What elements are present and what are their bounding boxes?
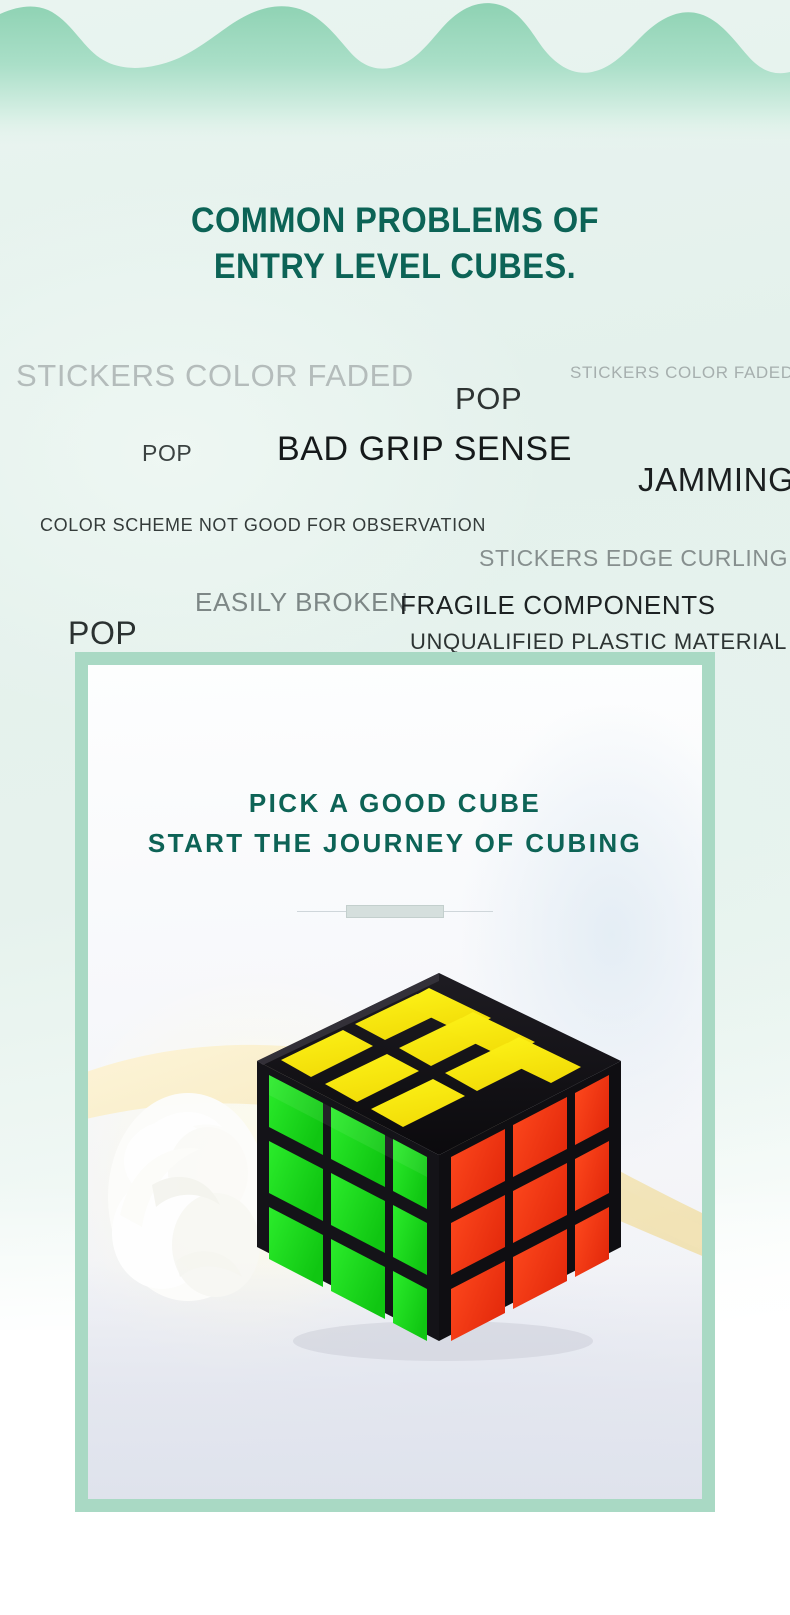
word-cloud-item: POP	[455, 383, 522, 414]
word-cloud-item: EASILY BROKEN	[195, 589, 408, 615]
card-title: PICK A GOOD CUBE START THE JOURNEY OF CU…	[88, 783, 702, 863]
page-title: COMMON PROBLEMS OF ENTRY LEVEL CUBES.	[28, 198, 763, 290]
section-divider	[297, 905, 493, 919]
divider-knob	[346, 905, 444, 918]
problems-word-cloud: STICKERS COLOR FADEDPOPSTICKERS COLOR FA…	[0, 340, 790, 600]
word-cloud-item: BAD GRIP SENSE	[277, 432, 572, 466]
word-cloud-item: STICKERS COLOR FADED	[16, 360, 414, 391]
product-marketing-page: COMMON PROBLEMS OF ENTRY LEVEL CUBES. ST…	[0, 0, 790, 1615]
product-photo: PICK A GOOD CUBE START THE JOURNEY OF CU…	[88, 665, 702, 1499]
rubiks-cube-photo	[243, 965, 633, 1365]
word-cloud-item: FRAGILE COMPONENTS	[400, 592, 716, 618]
word-cloud-item: JAMMING	[638, 463, 790, 496]
wave-banner	[0, 0, 790, 150]
card-title-line-1: PICK A GOOD CUBE	[88, 783, 702, 823]
word-cloud-item: COLOR SCHEME NOT GOOD FOR OBSERVATION	[40, 516, 486, 534]
page-title-line-2: ENTRY LEVEL CUBES.	[28, 244, 763, 290]
product-card: PICK A GOOD CUBE START THE JOURNEY OF CU…	[75, 652, 715, 1512]
page-title-line-1: COMMON PROBLEMS OF	[28, 198, 763, 244]
word-cloud-item: POP	[142, 442, 192, 465]
word-cloud-item: POP	[68, 617, 137, 649]
word-cloud-item: STICKERS EDGE CURLING	[479, 547, 788, 570]
word-cloud-item: UNQUALIFIED PLASTIC MATERIAL	[410, 631, 787, 653]
card-title-line-2: START THE JOURNEY OF CUBING	[88, 823, 702, 863]
word-cloud-item: STICKERS COLOR FADED	[570, 364, 790, 381]
